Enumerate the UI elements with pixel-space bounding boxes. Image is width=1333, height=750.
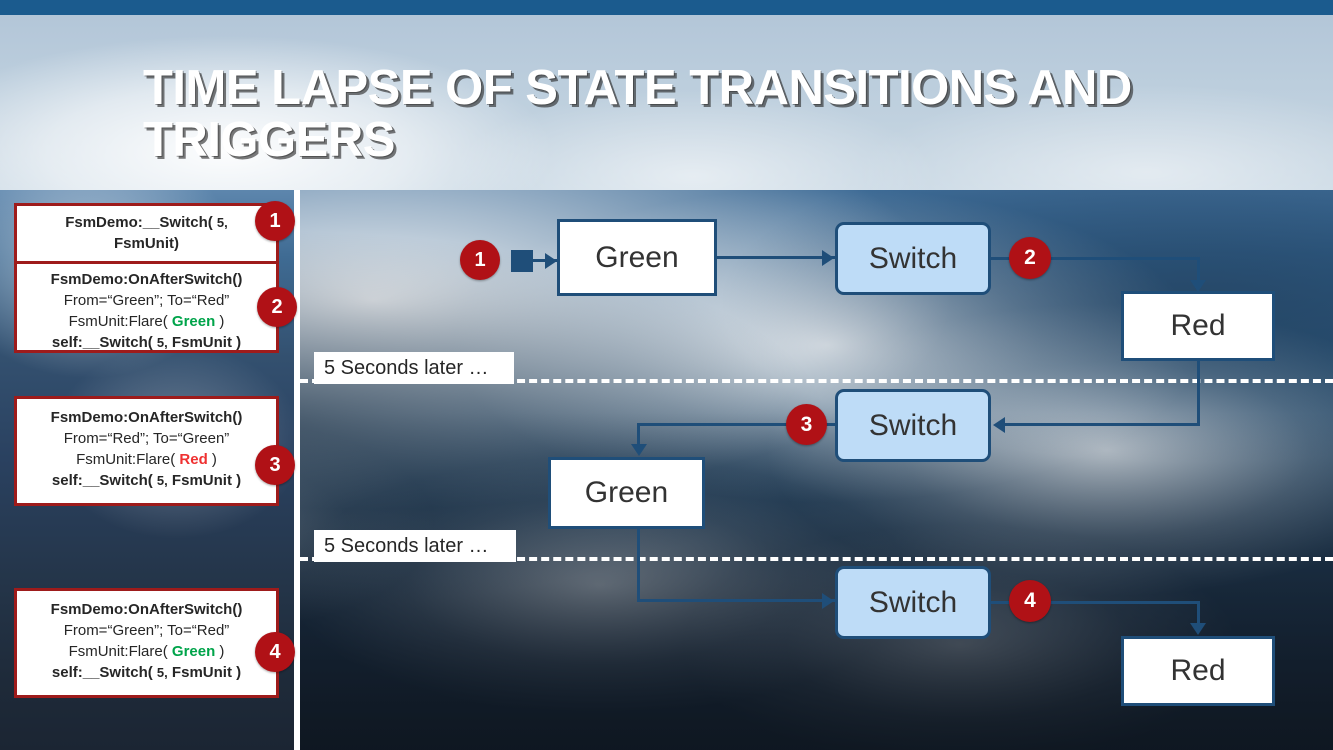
code-line: From=“Green”; To=“Red” [21,620,272,641]
code-line: FsmUnit:Flare( Green ) [21,641,272,662]
connector-green2-down [637,529,640,601]
slide-root: TIME LAPSE OF STATE TRANSITIONS AND TRIG… [0,0,1333,750]
code-line: FsmUnit:Flare( Green ) [21,311,272,332]
badge-diagram-3: 3 [786,404,827,445]
node-red-2[interactable]: Red [1121,636,1275,706]
start-node-icon [511,250,533,272]
sidebar-divider [294,190,300,750]
arrowhead-into-green2-icon [631,444,647,456]
code-line: FsmUnit) [23,233,270,254]
code-line: FsmDemo:__Switch( 5, [23,212,270,233]
node-switch-2[interactable]: Switch [835,389,991,462]
code-token: FsmDemo:OnAfterSwitch() [51,271,243,288]
code-token-green: Green [172,643,215,660]
code-line: self:__Switch( 5, FsmUnit ) [21,470,272,491]
code-line: self:__Switch( 5, FsmUnit ) [21,662,272,683]
code-token: FsmUnit:Flare( [69,643,172,660]
code-line: FsmUnit:Flare( Red ) [21,449,272,470]
badge-diagram-4: 4 [1009,580,1051,622]
codebox-3[interactable]: FsmDemo:OnAfterSwitch() From=“Red”; To=“… [14,396,279,506]
code-token: ) [215,313,224,330]
badge-sidebar-3: 3 [255,445,295,485]
arrowhead-into-switch1-icon [822,250,834,266]
badge-diagram-1: 1 [460,240,500,280]
code-token: FsmUnit ) [168,334,241,351]
node-switch-1[interactable]: Switch [835,222,991,295]
code-token: self:__Switch( [52,664,157,681]
code-token: FsmUnit ) [168,472,241,489]
codebox-2-section: FsmDemo:OnAfterSwitch() From=“Green”; To… [17,261,276,359]
arrowhead-into-green1-icon [545,253,557,269]
top-accent-strip [0,0,1333,15]
code-token: FsmUnit:Flare( [69,313,172,330]
connector-green2-to-switch3 [637,599,835,602]
code-token: ) [215,643,224,660]
code-line: FsmDemo:OnAfterSwitch() [21,599,272,620]
code-token: FsmUnit:Flare( [76,451,179,468]
code-token: 5, [217,215,228,230]
connector-red1-down [1197,361,1200,424]
node-switch-3[interactable]: Switch [835,566,991,639]
connector-green1-to-switch1 [717,256,835,259]
code-token: 5, [157,473,168,488]
connector-red1-to-switch2 [996,423,1200,426]
badge-diagram-2: 2 [1009,237,1051,279]
code-token: FsmUnit) [114,235,179,252]
code-token: From=“Red”; To=“Green” [64,430,230,447]
arrowhead-into-red2-icon [1190,623,1206,635]
code-token: ) [208,451,217,468]
node-green-1[interactable]: Green [557,219,717,296]
page-title: TIME LAPSE OF STATE TRANSITIONS AND TRIG… [143,63,1223,167]
arrowhead-into-switch2-icon [993,417,1005,433]
code-line: From=“Green”; To=“Red” [21,290,272,311]
badge-sidebar-2: 2 [257,287,297,327]
code-token-red: Red [179,451,207,468]
codebox-4[interactable]: FsmDemo:OnAfterSwitch() From=“Green”; To… [14,588,279,698]
time-separator-label-2: 5 Seconds later … [314,530,516,562]
code-token-green: Green [172,313,215,330]
node-red-1[interactable]: Red [1121,291,1275,361]
code-token: self:__Switch( [52,472,157,489]
time-separator-label-1: 5 Seconds later … [314,352,514,384]
node-green-2[interactable]: Green [548,457,705,529]
code-token: FsmDemo:OnAfterSwitch() [51,601,243,618]
code-token: From=“Green”; To=“Red” [64,622,230,639]
code-line: FsmDemo:OnAfterSwitch() [21,269,272,290]
code-token: FsmUnit ) [168,664,241,681]
code-token: FsmDemo:OnAfterSwitch() [51,409,243,426]
badge-sidebar-1: 1 [255,201,295,241]
badge-sidebar-4: 4 [255,632,295,672]
code-token: 5, [157,335,168,350]
codebox-group-1[interactable]: FsmDemo:__Switch( 5, FsmUnit) FsmDemo:On… [14,203,279,353]
code-token: 5, [157,665,168,680]
slide-header-band: TIME LAPSE OF STATE TRANSITIONS AND TRIG… [0,15,1333,190]
code-token: From=“Green”; To=“Red” [64,292,230,309]
code-token: FsmDemo:__Switch( [65,214,217,231]
code-token: self:__Switch( [52,334,157,351]
arrowhead-into-switch3-icon [822,593,834,609]
code-line: FsmDemo:OnAfterSwitch() [21,407,272,428]
code-line: From=“Red”; To=“Green” [21,428,272,449]
code-line: self:__Switch( 5, FsmUnit ) [21,332,272,353]
codebox-1-section: FsmDemo:__Switch( 5, FsmUnit) [17,206,276,261]
